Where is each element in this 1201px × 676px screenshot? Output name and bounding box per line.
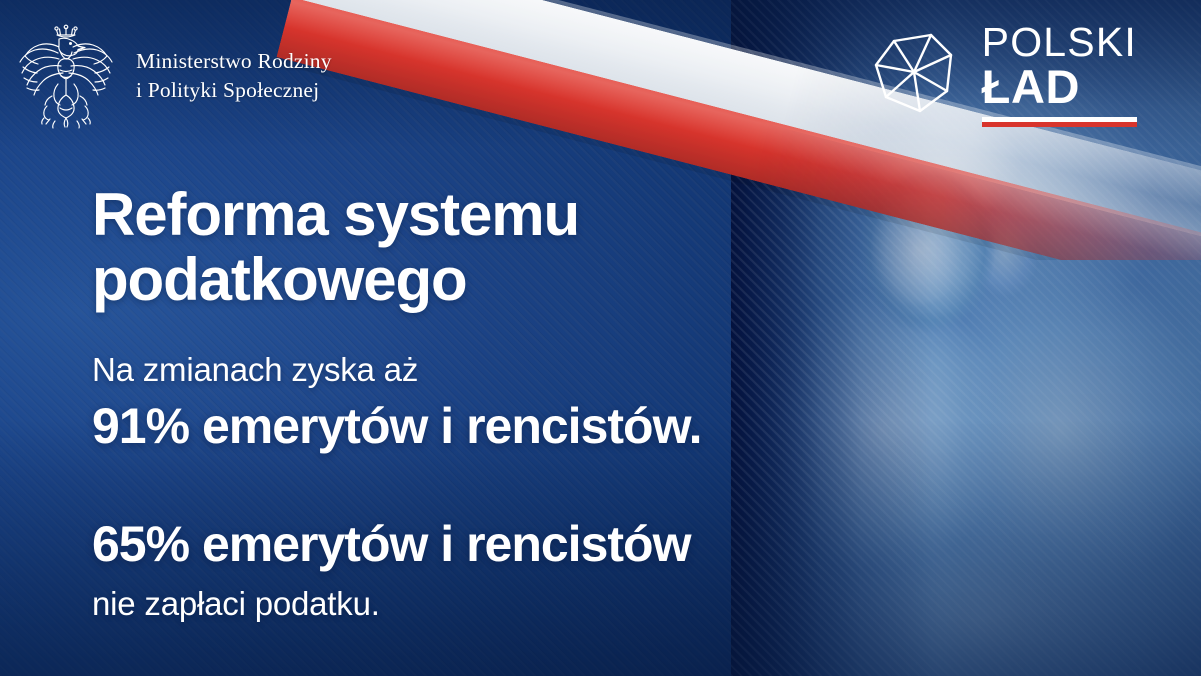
polish-eagle-emblem (14, 22, 118, 130)
claim-2-tail: nie zapłaci podatku. (92, 585, 972, 623)
headline-line1: Reforma systemu (92, 183, 972, 248)
ministry-lockup: Ministerstwo Rodziny i Polityki Społeczn… (14, 22, 332, 130)
polski-lad-polygon-mark (868, 25, 968, 125)
ministry-name-line2: i Polityki Społecznej (136, 76, 332, 105)
polski-lad-flag-bars (982, 117, 1137, 127)
headline: Reforma systemu podatkowego (92, 183, 972, 313)
polski-lad-lockup: POLSKI ŁAD (868, 22, 1137, 127)
polski-lad-bar-red (982, 122, 1137, 127)
ministry-name: Ministerstwo Rodziny i Polityki Społeczn… (136, 47, 332, 105)
claim-1-kicker: Na zmianach zyska aż (92, 351, 972, 389)
claim-2-statement: 65% emerytów i rencistów (92, 515, 972, 573)
campaign-poster: Ministerstwo Rodziny i Polityki Społeczn… (0, 0, 1201, 676)
copy-block: Reforma systemu podatkowego Na zmianach … (92, 183, 972, 623)
polski-lad-word-polski: POLSKI (982, 22, 1137, 62)
headline-line2: podatkowego (92, 248, 972, 313)
ministry-name-line1: Ministerstwo Rodziny (136, 47, 332, 76)
claim-1-statement: 91% emerytów i rencistów. (92, 397, 972, 455)
polski-lad-word-lad: ŁAD (982, 63, 1080, 110)
